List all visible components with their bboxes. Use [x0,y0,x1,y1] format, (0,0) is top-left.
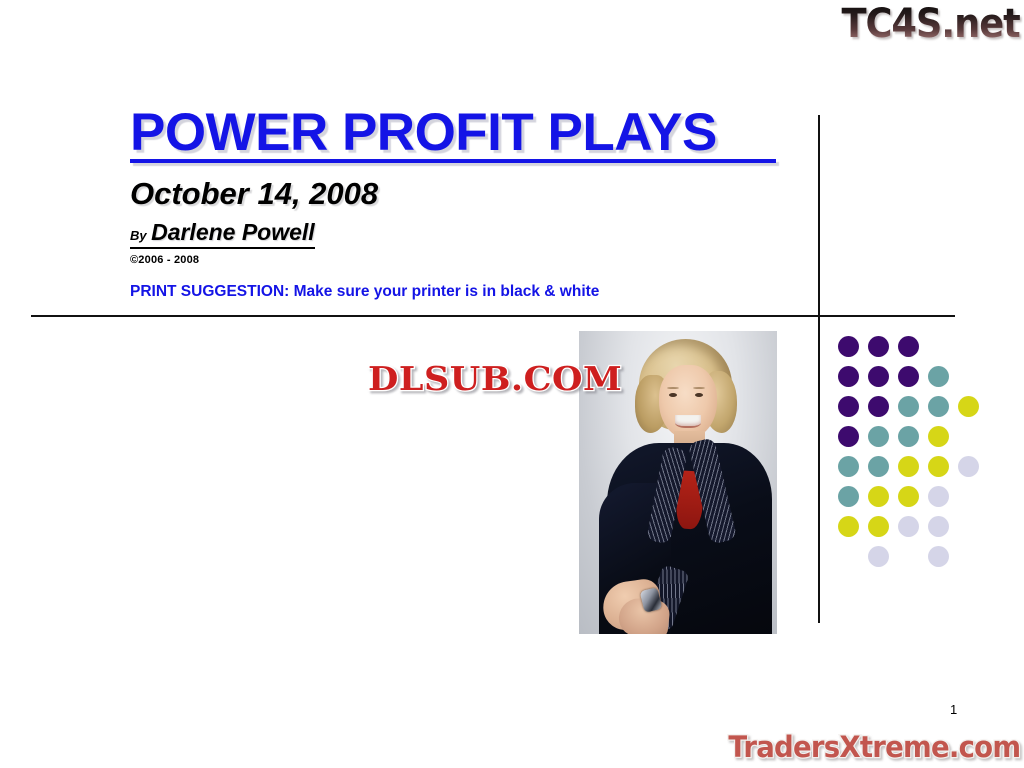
dot-purple [838,426,859,447]
dot-yellow [928,426,949,447]
dot-purple [838,366,859,387]
byline: By Darlene Powell [130,219,315,249]
dot-teal [868,456,889,477]
presentation-date: October 14, 2008 [130,175,790,213]
dot-teal [898,426,919,447]
copyright-notice: ©2006 - 2008 [130,254,790,266]
dot-yellow [838,516,859,537]
dot-yellow [898,486,919,507]
dot-purple [898,336,919,357]
dot-purple [838,396,859,417]
byline-author-name: Darlene Powell [151,219,315,245]
dlsub-watermark: DLSUB.COM [368,361,622,397]
slide-canvas: TC4S.net POWER PROFIT PLAYS October 14, … [0,0,1024,768]
print-suggestion-note: PRINT SUGGESTION: Make sure your printer… [130,283,599,301]
dot-purple [868,336,889,357]
dot-lavender [898,516,919,537]
tradersxtreme-brand-logo: TradersXtreme.com [728,730,1020,764]
horizontal-divider-rule [31,315,955,317]
page-number: 1 [950,702,957,717]
dot-teal [928,396,949,417]
dot-yellow [868,516,889,537]
portrait-eyebrow-left [667,387,679,389]
dot-lavender [928,516,949,537]
portrait-eyebrow-right [693,387,705,389]
dot-yellow [928,456,949,477]
dot-yellow [898,456,919,477]
title-block: POWER PROFIT PLAYS October 14, 2008 By D… [130,104,790,266]
dot-teal [838,456,859,477]
portrait-smile [675,415,701,428]
byline-by-word: By [130,228,147,243]
dot-purple [838,336,859,357]
vertical-divider-rule [818,115,820,623]
portrait-eye-left [669,393,677,397]
portrait-eye-right [695,393,703,397]
dot-purple [898,366,919,387]
dot-lavender [868,546,889,567]
dot-yellow [958,396,979,417]
dot-lavender [958,456,979,477]
dot-purple [868,366,889,387]
dot-yellow [868,486,889,507]
decorative-dot-grid [838,336,998,584]
dot-teal [838,486,859,507]
dot-purple [868,396,889,417]
dot-lavender [928,546,949,567]
tc4s-brand-logo: TC4S.net [842,2,1020,46]
dot-lavender [928,486,949,507]
dot-teal [928,366,949,387]
dot-teal [868,426,889,447]
dot-teal [898,396,919,417]
page-title: POWER PROFIT PLAYS [130,104,790,162]
